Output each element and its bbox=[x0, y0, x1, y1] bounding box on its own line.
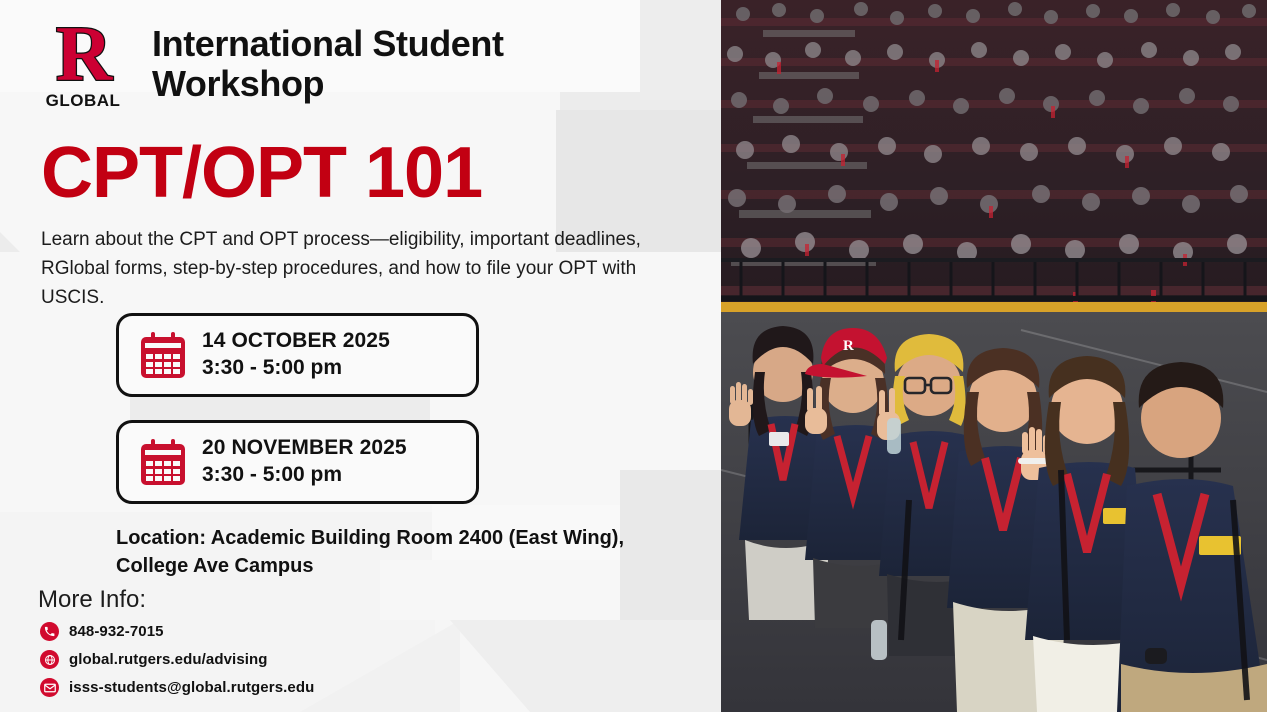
logo-wordmark: GLOBAL bbox=[46, 91, 121, 111]
poster-canvas: R GLOBAL International Student Workshop … bbox=[0, 0, 1267, 712]
envelope-icon bbox=[40, 678, 59, 697]
contact-row-email[interactable]: isss-students@global.rutgers.edu bbox=[40, 678, 314, 697]
description-text: Learn about the CPT and OPT process—elig… bbox=[41, 226, 681, 313]
poster-header: R GLOBAL International Student Workshop bbox=[38, 18, 622, 111]
contact-row-website[interactable]: global.rutgers.edu/advising bbox=[40, 650, 314, 669]
session-text: 14 OCTOBER 2025 3:30 - 5:00 pm bbox=[202, 328, 390, 382]
more-info-label: More Info: bbox=[38, 586, 146, 614]
calendar-icon bbox=[141, 332, 185, 378]
rutgers-block-r-icon: R bbox=[56, 18, 110, 90]
contact-list: 848-932-7015 global.rutgers.edu/advising bbox=[40, 622, 314, 697]
globe-icon bbox=[40, 650, 59, 669]
left-content-panel: R GLOBAL International Student Workshop … bbox=[0, 0, 721, 712]
phone-icon bbox=[40, 622, 59, 641]
event-photo: R bbox=[721, 0, 1267, 712]
session-date: 14 OCTOBER 2025 bbox=[202, 328, 390, 355]
location-text: Location: Academic Building Room 2400 (E… bbox=[116, 524, 661, 581]
session-card: 20 NOVEMBER 2025 3:30 - 5:00 pm bbox=[116, 420, 479, 504]
session-time: 3:30 - 5:00 pm bbox=[202, 355, 390, 382]
session-date: 20 NOVEMBER 2025 bbox=[202, 435, 407, 462]
session-card: 14 OCTOBER 2025 3:30 - 5:00 pm bbox=[116, 313, 479, 397]
headline: CPT/OPT 101 bbox=[41, 137, 482, 209]
rutgers-global-logo: R GLOBAL bbox=[38, 18, 128, 111]
email-value: isss-students@global.rutgers.edu bbox=[69, 679, 314, 696]
session-text: 20 NOVEMBER 2025 3:30 - 5:00 pm bbox=[202, 435, 407, 489]
panel-content: R GLOBAL International Student Workshop … bbox=[0, 0, 721, 712]
svg-text:R: R bbox=[843, 338, 854, 354]
calendar-icon bbox=[141, 439, 185, 485]
session-time: 3:30 - 5:00 pm bbox=[202, 462, 407, 489]
website-value: global.rutgers.edu/advising bbox=[69, 651, 268, 668]
contact-row-phone[interactable]: 848-932-7015 bbox=[40, 622, 314, 641]
phone-value: 848-932-7015 bbox=[69, 623, 164, 640]
page-title: International Student Workshop bbox=[152, 24, 622, 105]
